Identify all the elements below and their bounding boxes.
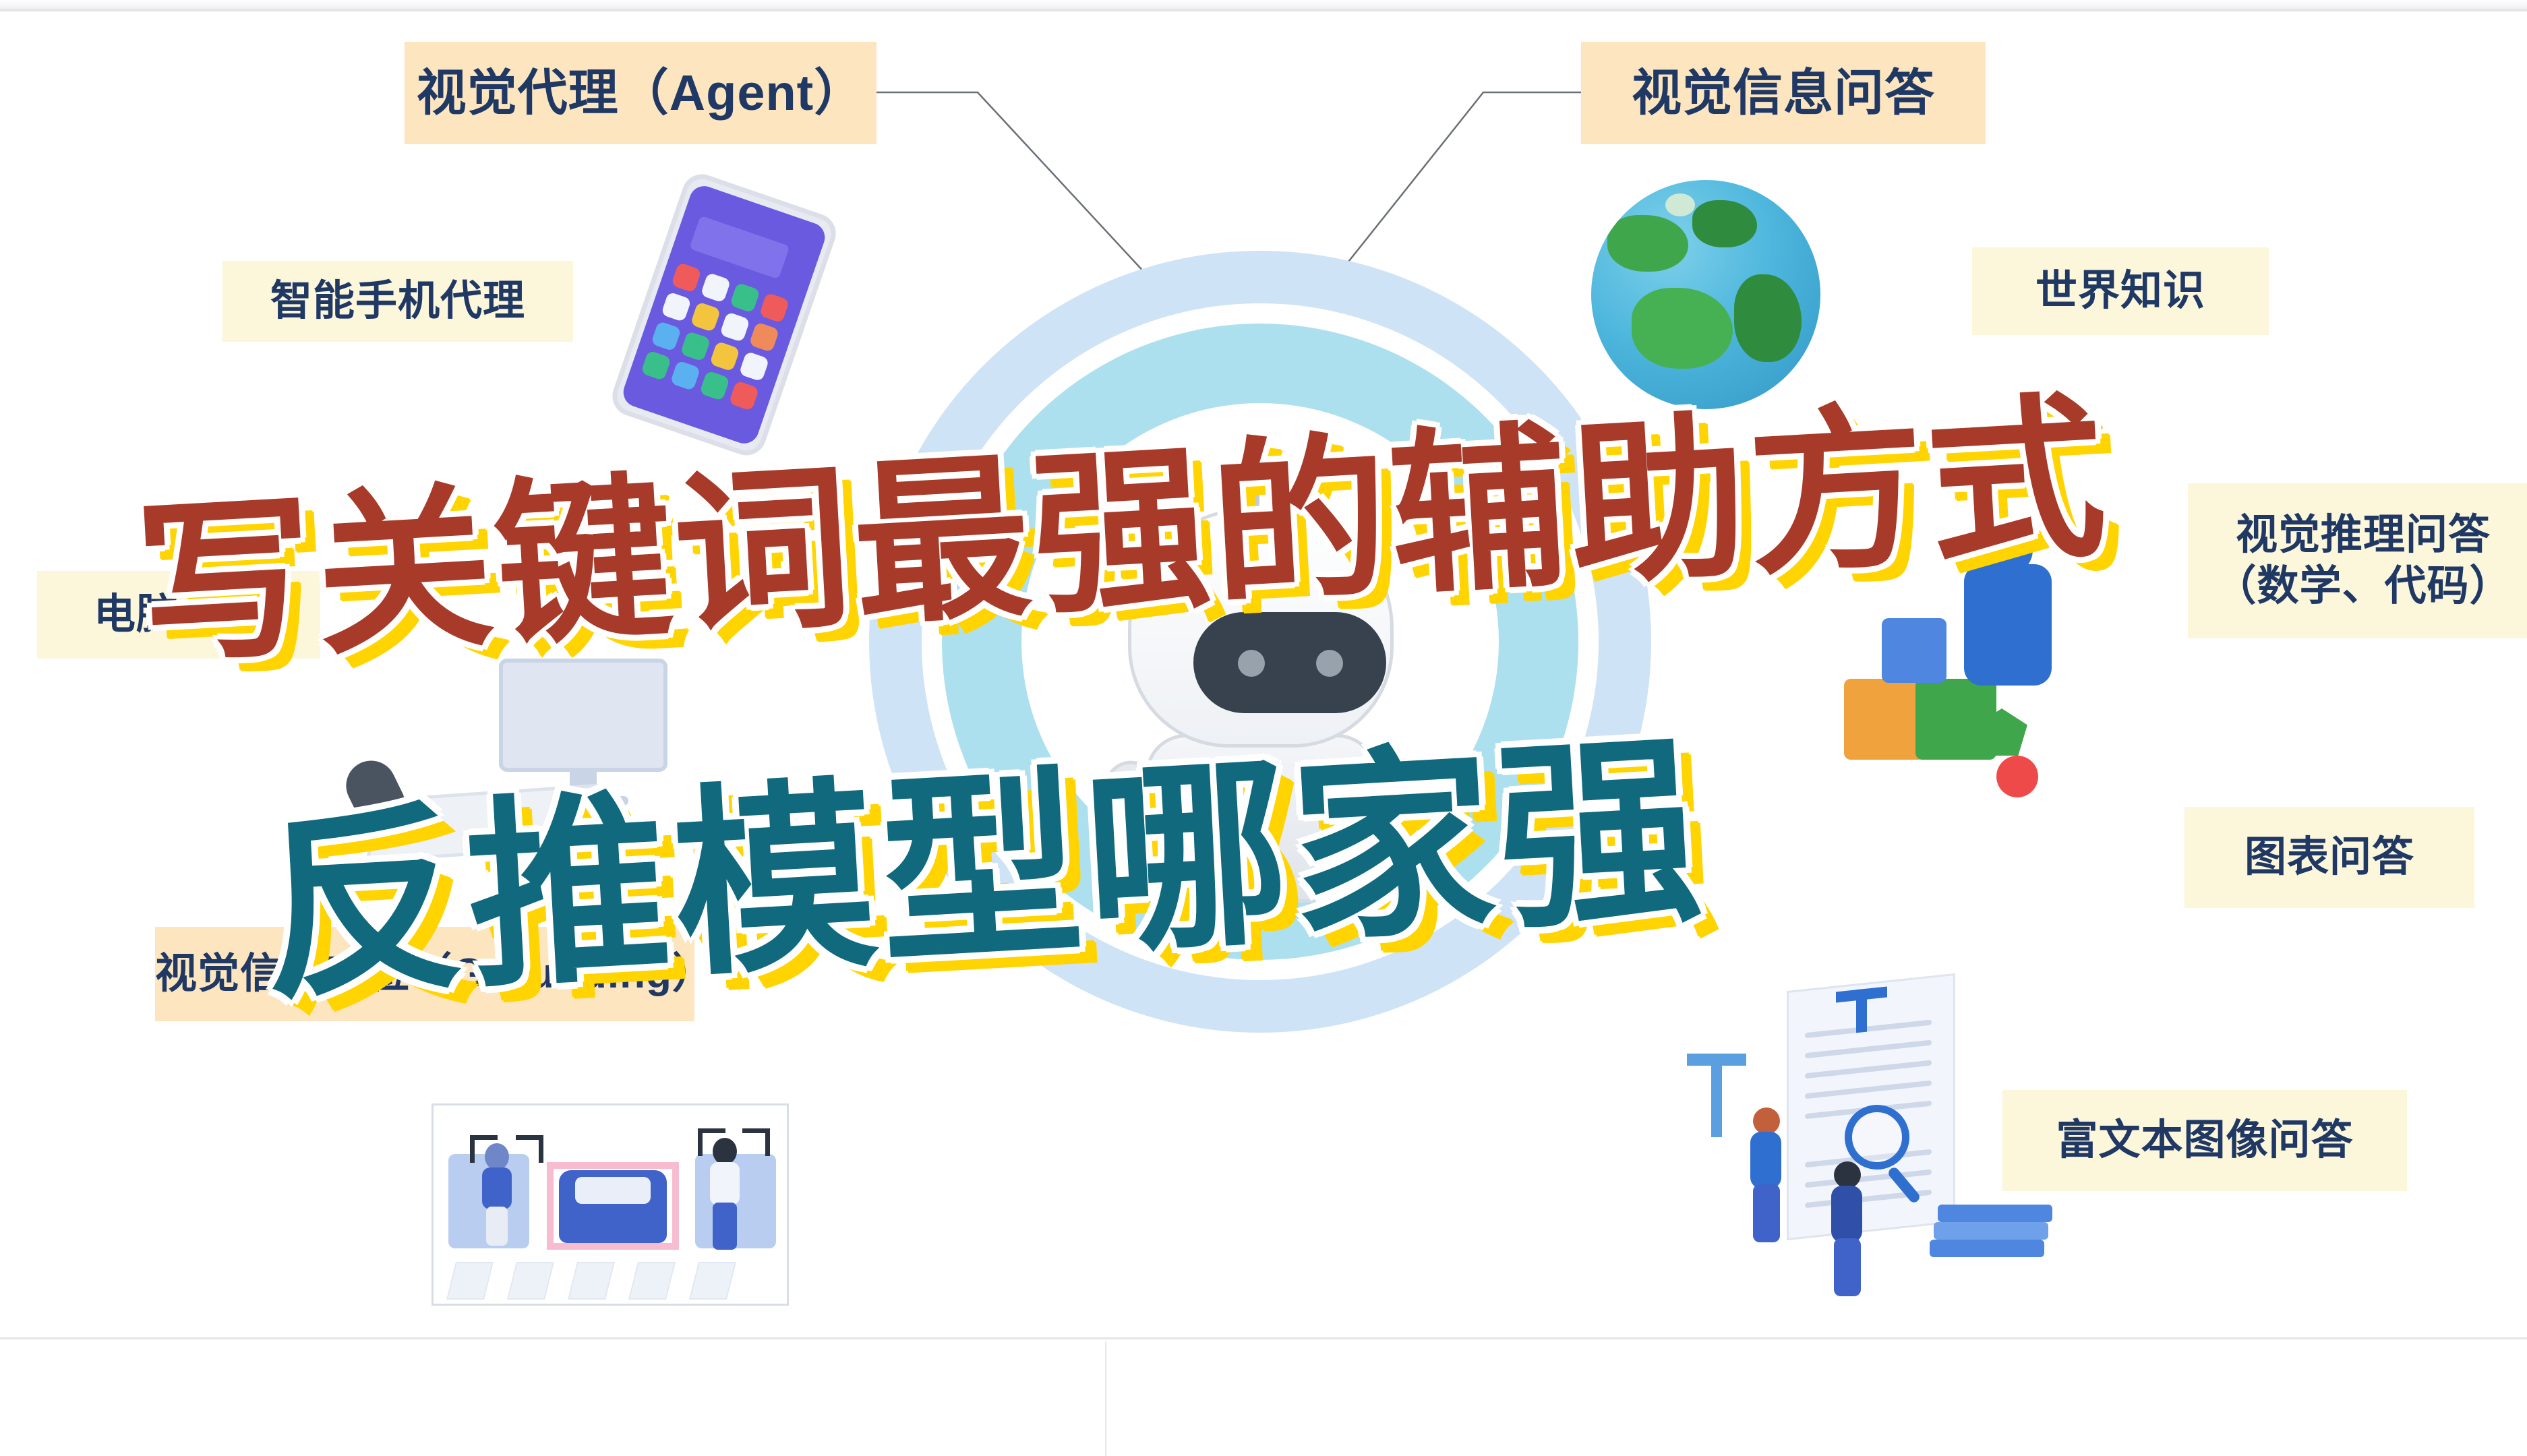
detection-corner [742,1128,770,1156]
text-tool-stand [1711,1063,1722,1137]
crosswalk-stripe [568,1262,615,1300]
crosswalk-stripe [446,1262,494,1300]
app-icon [680,331,711,362]
page-bottom-area [0,1339,2527,1456]
document-text-line [1805,1170,1932,1188]
robot-left-eye-icon [1238,650,1265,677]
video-frame: 视觉代理（Agent）视觉信息问答智能手机代理世界知识电脑代理视觉推理问答 （数… [0,0,2527,1456]
globe-landmass [1692,200,1757,247]
pedestrian-body [710,1162,740,1205]
label-chip-smartphone-agent: 智能手机代理 [222,261,573,342]
app-icon [739,351,770,382]
app-icon [641,350,672,381]
person-legs [1753,1184,1780,1242]
app-icon [729,380,760,411]
person-head [1834,1161,1861,1188]
car-icon [559,1170,667,1243]
app-icon [709,341,740,372]
crosswalk-stripe [507,1262,554,1300]
magnifier-icon [1845,1105,1909,1170]
label-chip-world-knowledge: 世界知识 [1972,247,2269,335]
document-text-line [1805,1040,1932,1059]
app-icon [719,311,750,342]
label-chip-visual-info-qa: 视觉信息问答 [1581,42,1986,144]
text-tool-bar [1687,1054,1746,1066]
smartphone-app-grid [641,262,791,412]
books-stack-icon [1930,1199,2051,1273]
robot-right-eye-icon [1316,650,1343,677]
block-orange [1844,679,1925,760]
document-text-line [1805,1020,1932,1039]
label-chip-visual-agent: 视觉代理（Agent） [405,42,876,144]
app-icon [749,322,780,353]
globe-landmass [1734,274,1802,362]
crosswalk-stripe [689,1262,736,1300]
label-chip-visual-reasoning-qa: 视觉推理问答 （数学、代码） [2188,483,2527,638]
app-icon [671,262,702,293]
app-icon [730,282,761,313]
pedestrian-body [482,1167,512,1209]
document-text-line [1805,1081,1932,1099]
app-icon [699,370,730,401]
book [1934,1222,2048,1240]
detection-corner [516,1135,543,1163]
globe-highlight [1665,193,1695,216]
person-head [1753,1108,1780,1134]
app-icon [759,293,790,324]
page-top-strip [0,0,2527,9]
label-chip-chart-qa: 图表问答 [2184,807,2474,908]
document-review-icon [1692,962,2043,1312]
object-detection-photo [432,1103,789,1306]
crosswalk [434,1251,789,1304]
globe-landmass [1607,215,1688,272]
crosswalk-stripe [628,1262,676,1300]
app-icon [690,301,721,332]
block-blue [1882,618,1946,683]
app-icon [661,291,692,322]
smartphone-clock [689,216,790,280]
document-text-line [1805,1060,1932,1079]
detection-corner [698,1128,725,1156]
app-icon [670,360,701,391]
person-body [1831,1186,1862,1242]
pedestrian-legs [713,1203,737,1250]
app-icon [651,321,682,352]
block-ball [1996,756,2038,797]
slide-canvas: 视觉代理（Agent）视觉信息问答智能手机代理世界知识电脑代理视觉推理问答 （数… [0,11,2527,1337]
detection-corner [470,1135,498,1163]
person-body [1750,1132,1781,1188]
bottom-vertical-divider [1105,1341,1106,1456]
label-chip-rich-text-image-qa: 富文本图像问答 [2002,1090,2407,1191]
car-window [575,1177,651,1204]
person-legs [1834,1238,1861,1296]
pedestrian-legs [486,1207,508,1246]
book [1938,1205,2052,1222]
app-icon [701,272,732,303]
book [1930,1240,2044,1257]
